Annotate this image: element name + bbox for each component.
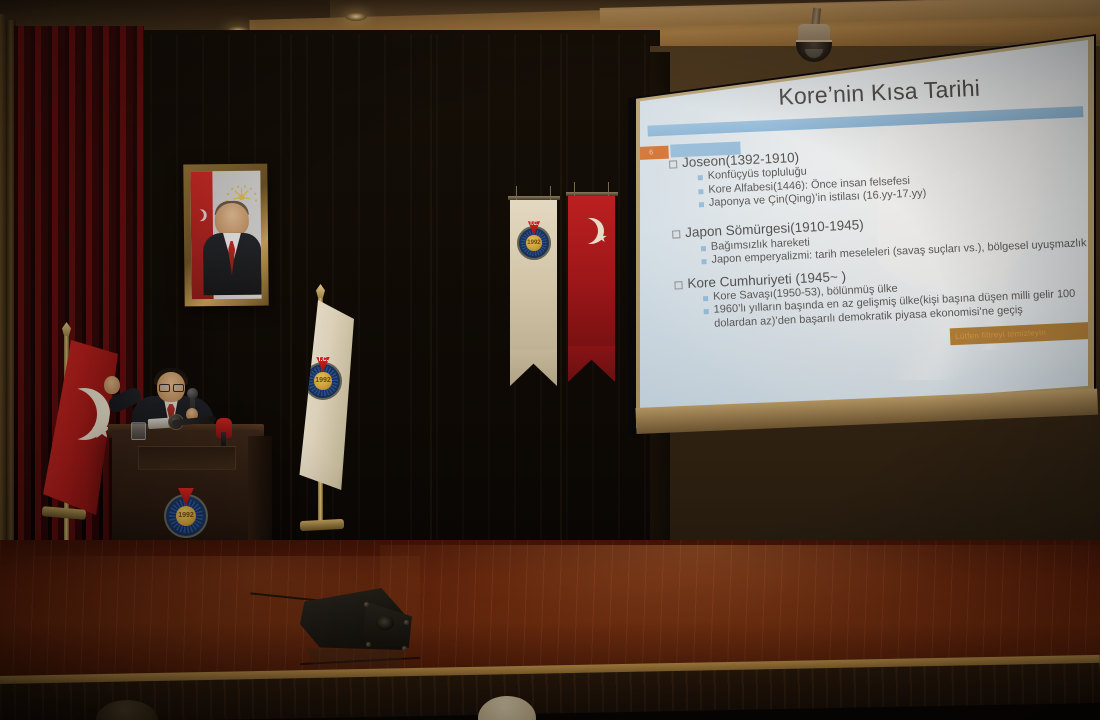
bullet-square-icon: [672, 231, 680, 239]
emblem-year: 1992: [526, 235, 542, 251]
monitor-screw: [404, 620, 409, 625]
projector-osd-message: Lütfen filtreyi temizleyin: [950, 322, 1088, 345]
podium-university-emblem-icon: 1992: [164, 494, 208, 538]
bullet-square-small-icon: [701, 259, 706, 264]
bullet-square-small-icon: [704, 309, 709, 314]
framed-portrait: [183, 164, 268, 307]
speaker-hand: [104, 376, 120, 394]
university-emblem-icon: T.C. 1992: [517, 226, 551, 260]
bullet-square-small-icon: [698, 189, 703, 194]
banner-body: T.C. 1992: [510, 200, 557, 350]
emblem-year: 1992: [314, 372, 331, 389]
panel-seam: [430, 34, 432, 564]
university-banner: T.C. 1992: [510, 200, 557, 386]
podium-emblem-year: 1992: [176, 506, 196, 526]
podium-panel-inset: [138, 446, 236, 470]
monitor-screw: [366, 642, 371, 647]
monitor-screw: [402, 646, 407, 651]
monitor-screw: [364, 602, 369, 607]
panel-seam: [560, 34, 562, 564]
portrait-image: [190, 171, 261, 300]
bullet-square-small-icon: [701, 246, 706, 251]
water-glass: [131, 422, 146, 440]
microphone-icon: [187, 388, 198, 399]
stage-monitor-port-icon: [376, 616, 394, 630]
banner-body: [568, 196, 615, 346]
bullet-square-small-icon: [698, 175, 703, 180]
ceiling-downlight-icon: [345, 12, 367, 21]
panel-seam: [290, 34, 292, 564]
bullet-square-small-icon: [699, 202, 704, 207]
bullet-square-small-icon: [703, 296, 708, 301]
auditorium-photo: Kore’nin Kısa Tarihi 6 Joseon(1392-1910)…: [0, 0, 1100, 720]
presentation-slide: Kore’nin Kısa Tarihi 6 Joseon(1392-1910)…: [640, 40, 1088, 418]
bullet-square-icon: [669, 160, 677, 168]
banner-tail: [510, 350, 557, 386]
bullet-square-icon: [674, 281, 682, 289]
press-microphone-stem: [221, 432, 226, 446]
eyeglasses-icon: [159, 384, 184, 390]
projection-screen: Kore’nin Kısa Tarihi 6 Joseon(1392-1910)…: [640, 40, 1088, 418]
slide-body: Joseon(1392-1910) Konfüçyüs topluluğu Ko…: [643, 136, 1088, 333]
banner-tail: [568, 346, 615, 382]
turkish-flag-banner: [568, 196, 615, 382]
